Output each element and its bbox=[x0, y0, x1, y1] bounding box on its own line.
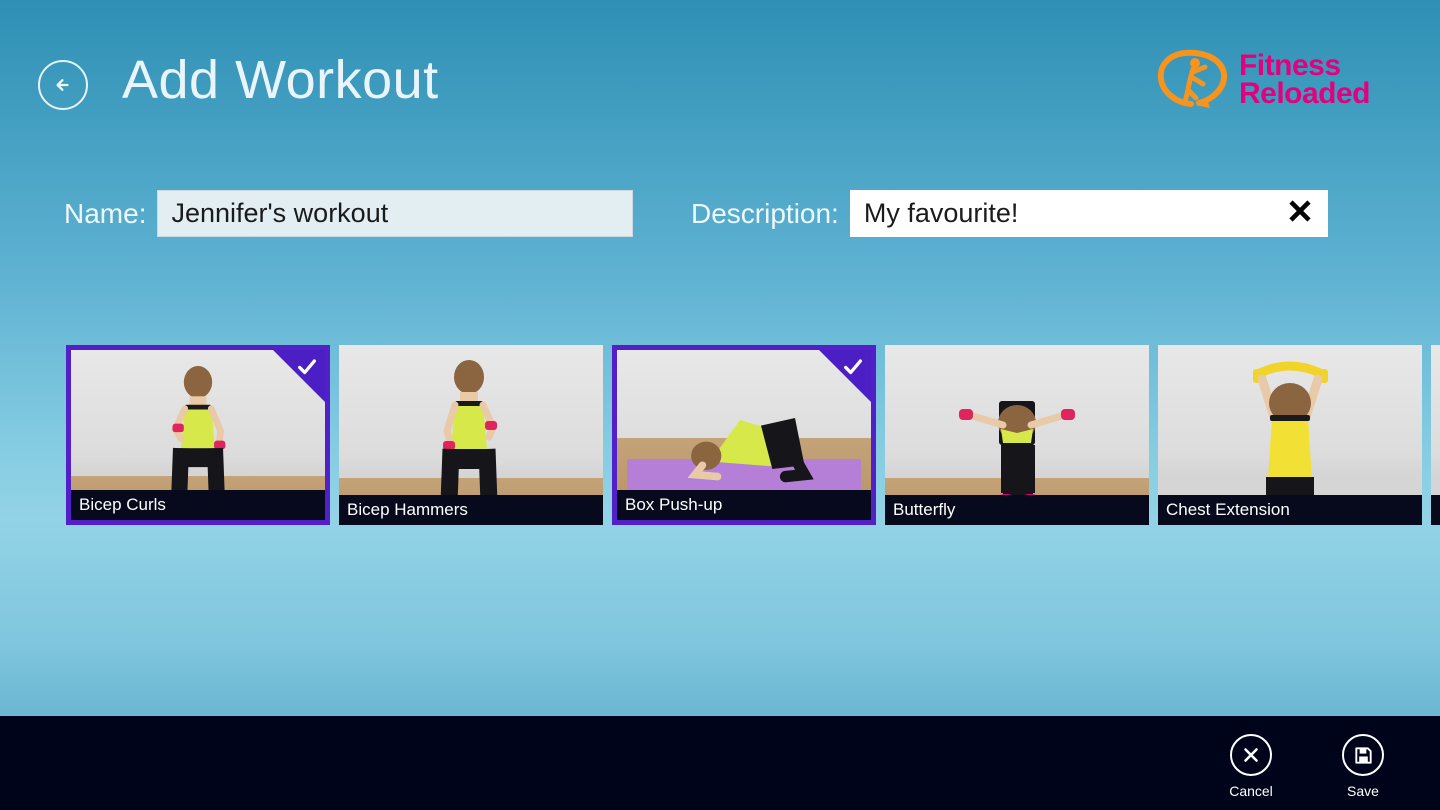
name-input-value: Jennifer's workout bbox=[158, 198, 388, 229]
exercise-tile[interactable]: Bicep Curls bbox=[66, 345, 330, 525]
add-workout-screen: Add Workout Fitness Reloaded Name: bbox=[0, 0, 1440, 810]
check-icon bbox=[296, 356, 318, 378]
exercise-tile-label: Chest Extension bbox=[1158, 495, 1422, 525]
exercise-name: Bicep Hammers bbox=[347, 500, 468, 520]
brand-logo: Fitness Reloaded bbox=[1155, 48, 1370, 112]
exercise-tile-label: Butterfly bbox=[885, 495, 1149, 525]
name-field-group: Name: Jennifer's workout bbox=[64, 190, 633, 237]
page-title: Add Workout bbox=[122, 48, 439, 113]
brand-logo-line2: Reloaded bbox=[1239, 80, 1370, 108]
exercise-tile[interactable] bbox=[1431, 345, 1440, 525]
exercise-tile[interactable]: Butterfly bbox=[885, 345, 1149, 525]
brand-logo-text: Fitness Reloaded bbox=[1239, 52, 1370, 108]
description-clear-button[interactable] bbox=[1283, 197, 1317, 231]
name-input[interactable]: Jennifer's workout bbox=[157, 190, 633, 237]
back-button[interactable] bbox=[38, 60, 88, 110]
exercise-thumbnail: Butterfly bbox=[885, 345, 1149, 525]
cancel-button-label: Cancel bbox=[1229, 783, 1273, 799]
close-x-icon bbox=[1285, 196, 1315, 231]
fitness-reloaded-logo-icon bbox=[1155, 48, 1233, 112]
exercise-thumbnail: Box Push-up bbox=[617, 350, 871, 520]
page-header: Add Workout Fitness Reloaded bbox=[0, 0, 1440, 150]
selected-check-badge bbox=[273, 350, 325, 402]
exercise-thumbnail: Chest Extension bbox=[1158, 345, 1422, 525]
bottom-app-bar: Cancel Save bbox=[0, 714, 1440, 810]
description-input[interactable]: My favourite! bbox=[850, 190, 1328, 237]
exercise-tile[interactable]: Box Push-up bbox=[612, 345, 876, 525]
exercise-thumbnail: Bicep Hammers bbox=[339, 345, 603, 525]
back-arrow-icon bbox=[50, 72, 76, 98]
exercise-tile-label bbox=[1431, 495, 1440, 525]
name-label: Name: bbox=[64, 198, 146, 230]
exercise-thumbnail: Bicep Curls bbox=[71, 350, 325, 520]
selected-check-badge bbox=[819, 350, 871, 402]
exercise-name: Bicep Curls bbox=[79, 495, 166, 515]
exercise-tile-label: Box Push-up bbox=[617, 490, 871, 520]
save-floppy-circle-icon bbox=[1342, 734, 1384, 776]
app-bar-actions: Cancel Save bbox=[1218, 734, 1396, 799]
exercise-thumbnail bbox=[1431, 345, 1440, 525]
description-input-value: My favourite! bbox=[851, 198, 1019, 229]
exercise-tile-strip[interactable]: Bicep Curls bbox=[0, 345, 1440, 527]
exercise-name: Butterfly bbox=[893, 500, 955, 520]
exercise-tile-label: Bicep Curls bbox=[71, 490, 325, 520]
exercise-tile[interactable]: Chest Extension bbox=[1158, 345, 1422, 525]
description-field-group: Description: My favourite! bbox=[691, 190, 1328, 237]
exercise-tile-label: Bicep Hammers bbox=[339, 495, 603, 525]
exercise-name: Box Push-up bbox=[625, 495, 722, 515]
check-icon bbox=[842, 356, 864, 378]
exercise-tile[interactable]: Bicep Hammers bbox=[339, 345, 603, 525]
save-button[interactable]: Save bbox=[1330, 734, 1396, 799]
brand-logo-line1: Fitness bbox=[1239, 52, 1370, 80]
cancel-x-circle-icon bbox=[1230, 734, 1272, 776]
cancel-button[interactable]: Cancel bbox=[1218, 734, 1284, 799]
description-label: Description: bbox=[691, 198, 839, 230]
exercise-name: Chest Extension bbox=[1166, 500, 1290, 520]
save-button-label: Save bbox=[1347, 783, 1379, 799]
workout-form: Name: Jennifer's workout Description: My… bbox=[0, 190, 1440, 244]
